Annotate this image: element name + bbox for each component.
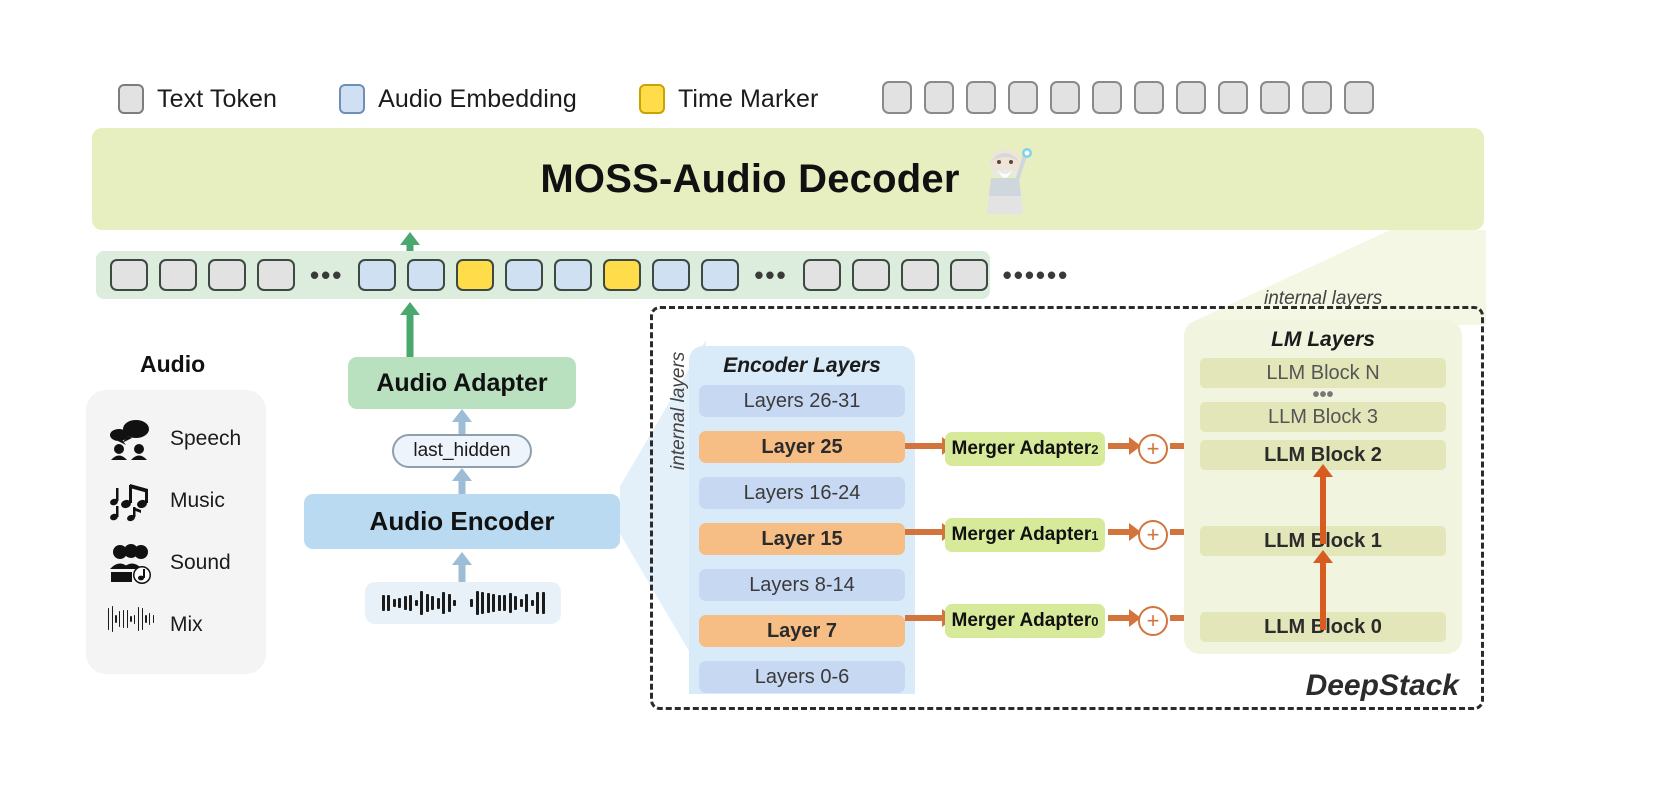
audio-item-label: Speech	[170, 427, 241, 451]
plus-symbol: +	[1147, 610, 1160, 632]
adapter-to-strip-arrow	[398, 302, 422, 358]
merger-adapter-2: Merger Adapter2	[945, 432, 1105, 466]
legend-label: Time Marker	[678, 85, 818, 114]
text-token-swatch-icon	[118, 84, 144, 114]
audio-item-label: Mix	[170, 613, 203, 637]
moss-audio-decoder-banner: MOSS-Audio Decoder	[92, 128, 1484, 230]
encoder-to-last-hidden-arrow	[450, 468, 474, 496]
layer15-to-merger1-arrow	[905, 529, 943, 535]
legend-item-text-token: Text Token	[118, 84, 277, 114]
output-token	[1218, 81, 1248, 114]
input-waveform-chip	[365, 582, 561, 624]
residual-add-2: +	[1138, 434, 1168, 464]
audio-section-title: Audio	[140, 351, 205, 378]
merger1-to-plus-arrow	[1108, 529, 1130, 535]
merger-adapter-label: Merger Adapter	[952, 524, 1092, 546]
audio-adapter-block: Audio Adapter	[348, 357, 576, 409]
layer25-to-merger2-arrow	[905, 443, 943, 449]
encoder-layer-row: Layers 0-6	[699, 661, 905, 693]
encoder-layer-row: Layers 16-24	[699, 477, 905, 509]
waveform-icon	[382, 590, 457, 616]
input-token-yellow	[603, 259, 641, 291]
deepstack-label: DeepStack	[1306, 669, 1459, 703]
output-token	[966, 81, 996, 114]
input-token-gray	[257, 259, 295, 291]
encoder-layer-row: Layers 8-14	[699, 569, 905, 601]
input-token-gray	[950, 259, 988, 291]
wizard-mascot-icon	[974, 142, 1036, 216]
input-token-blue	[358, 259, 396, 291]
strip-ellipsis: •••	[750, 262, 791, 288]
output-token	[1344, 81, 1374, 114]
lm-internal-layers-label: internal layers	[1264, 288, 1382, 310]
diagram-canvas: Text Token Audio Embedding Time Marker M…	[0, 0, 1680, 804]
last-hidden-to-adapter-arrow	[450, 409, 474, 435]
output-token	[1260, 81, 1290, 114]
input-token-gray	[803, 259, 841, 291]
output-token-row	[882, 81, 1374, 114]
audio-item-label: Sound	[170, 551, 231, 575]
output-token	[1008, 81, 1038, 114]
encoder-layer-row: Layers 26-31	[699, 385, 905, 417]
encoder-layers-panel: Encoder Layers Layers 26-31Layer 25Layer…	[689, 346, 915, 694]
output-token	[1302, 81, 1332, 114]
input-token-blue	[505, 259, 543, 291]
merger-adapter-sub: 0	[1091, 614, 1098, 629]
legend-label: Text Token	[157, 85, 277, 114]
legend-item-audio-embedding: Audio Embedding	[339, 84, 577, 114]
output-token	[1050, 81, 1080, 114]
audio-encoder-block: Audio Encoder	[304, 494, 620, 549]
merger0-to-plus-arrow	[1108, 615, 1130, 621]
merger-adapter-sub: 2	[1091, 442, 1098, 457]
music-notes-icon	[108, 480, 154, 522]
encoder-layer-row: Layer 25	[699, 431, 905, 463]
merger-adapter-label: Merger Adapter	[952, 438, 1092, 460]
plus-symbol: +	[1147, 524, 1160, 546]
block0-to-block1-arrow	[1320, 562, 1326, 630]
strip-ellipsis-long: ••••••	[999, 262, 1074, 288]
speech-bubbles-icon	[108, 418, 154, 460]
input-token-gray	[110, 259, 148, 291]
audio-item-speech: Speech	[86, 408, 266, 470]
encoder-internal-layers-label: internal layers	[668, 352, 690, 470]
audio-item-music: Music	[86, 470, 266, 532]
audio-item-label: Music	[170, 489, 225, 513]
merger-adapter-0: Merger Adapter0	[945, 604, 1105, 638]
legend: Text Token Audio Embedding Time Marker	[118, 84, 880, 114]
input-token-blue	[701, 259, 739, 291]
encoder-layers-heading: Encoder Layers	[699, 354, 905, 378]
residual-add-1: +	[1138, 520, 1168, 550]
input-token-gray	[159, 259, 197, 291]
output-token	[1092, 81, 1122, 114]
input-token-gray	[208, 259, 246, 291]
block1-to-block2-arrow	[1320, 476, 1326, 544]
lm-block-row: LLM Block 3	[1200, 402, 1446, 432]
input-token-blue	[554, 259, 592, 291]
last-hidden-tag: last_hidden	[392, 434, 532, 468]
merger-adapter-sub: 1	[1091, 528, 1098, 543]
time-marker-swatch-icon	[639, 84, 665, 114]
encoder-layer-row: Layer 7	[699, 615, 905, 647]
audio-types-panel: Speech Music	[86, 390, 266, 674]
lm-ellipsis: •••	[1200, 388, 1446, 402]
merger-adapter-1: Merger Adapter1	[945, 518, 1105, 552]
waveform-icon	[108, 604, 154, 646]
audio-embedding-swatch-icon	[339, 84, 365, 114]
legend-label: Audio Embedding	[378, 85, 577, 114]
waveform-to-encoder-arrow	[450, 552, 474, 584]
residual-add-0: +	[1138, 606, 1168, 636]
waveform-icon	[470, 590, 545, 616]
legend-item-time-marker: Time Marker	[639, 84, 818, 114]
input-token-gray	[901, 259, 939, 291]
audio-item-sound: Sound	[86, 532, 266, 594]
encoder-layer-row: Layer 15	[699, 523, 905, 555]
output-token	[882, 81, 912, 114]
audio-item-mix: Mix	[86, 594, 266, 656]
input-token-yellow	[456, 259, 494, 291]
output-token	[1176, 81, 1206, 114]
crowd-sound-icon	[108, 542, 154, 584]
output-token	[924, 81, 954, 114]
output-token	[1134, 81, 1164, 114]
layer7-to-merger0-arrow	[905, 615, 943, 621]
input-token-gray	[852, 259, 890, 291]
plus-symbol: +	[1147, 438, 1160, 460]
strip-ellipsis: •••	[306, 262, 347, 288]
input-token-blue	[652, 259, 690, 291]
merger-adapter-label: Merger Adapter	[952, 610, 1092, 632]
decoder-title: MOSS-Audio Decoder	[540, 157, 959, 202]
input-token-blue	[407, 259, 445, 291]
merger2-to-plus-arrow	[1108, 443, 1130, 449]
input-token-strip: ••••••••••••	[96, 251, 990, 299]
lm-layers-heading: LM Layers	[1200, 328, 1446, 352]
